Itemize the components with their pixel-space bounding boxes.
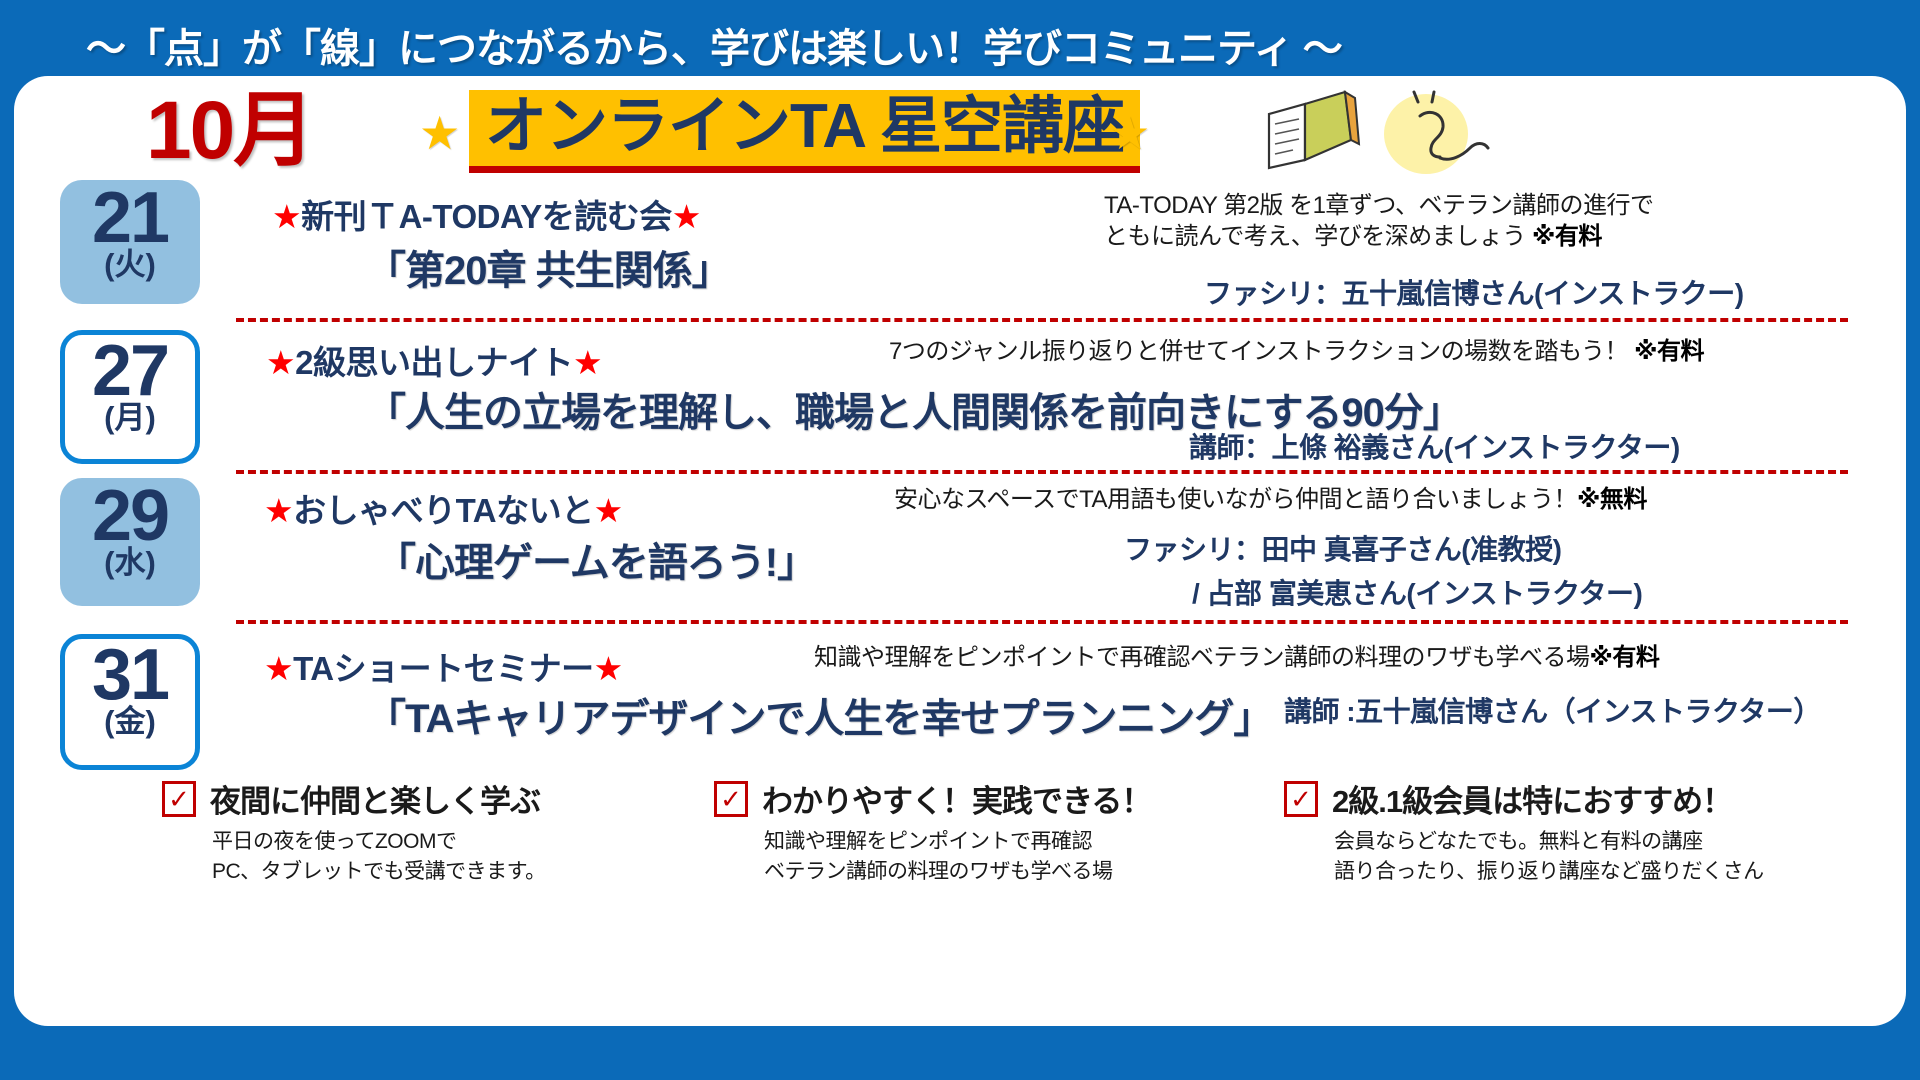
- star-icon: ★: [264, 650, 293, 687]
- fee-badge: ※有料: [1590, 644, 1660, 671]
- flyer-root: 〜「点」が「線」につながるから、学びは楽しい！学びコミュニティ 〜 10月 ★ …: [0, 0, 1920, 1080]
- listening-ear-icon: [1374, 90, 1494, 182]
- benefit-sub-line-1: 会員ならどなたでも。無料と有料の講座: [1334, 830, 1703, 853]
- event-description: 安心なスペースでTA用語も使いながら仲間と語り合いましょう！※無料: [894, 484, 1647, 515]
- benefit-subtext: 知識や理解をピンポイントで再確認 ベテラン講師の料理のワザも学べる場: [714, 827, 1151, 888]
- benefit-subtext: 平日の夜を使ってZOOMで PC、タブレットでも受講できます。: [162, 827, 546, 888]
- content-card: 10月 ★ オンラインTA 星空講座 ★: [14, 76, 1906, 1026]
- date-weekday: (水): [104, 547, 156, 578]
- date-weekday: (月): [104, 402, 156, 433]
- star-icon: ★: [672, 198, 701, 235]
- page-title: オンラインTA 星空講座: [469, 90, 1140, 173]
- benefit-title: 夜間に仲間と楽しく学ぶ: [210, 776, 540, 821]
- fee-badge: ※無料: [1577, 486, 1647, 513]
- star-right-icon: ★: [1109, 110, 1150, 156]
- fee-badge: ※有料: [1634, 338, 1704, 365]
- desc-line-2: ともに読んで考え、学びを深めましょう: [1104, 223, 1526, 250]
- event-headline-text: 新刊ＴA-TODAYを読む会: [301, 198, 672, 235]
- benefit-sub-line-1: 知識や理解をピンポイントで再確認: [764, 830, 1092, 853]
- event-row[interactable]: 31 (金) ★TAショートセミナー★ 「TAキャリアデザインで人生を幸せプラン…: [14, 624, 1906, 764]
- star-icon: ★: [264, 492, 293, 529]
- event-facilitator: ファシリ：田中 真喜子さん(准教授): [1124, 528, 1561, 568]
- benefit-sub-line-2: ベテラン講師の料理のワザも学べる場: [764, 860, 1113, 883]
- event-title: 「心理ゲームを語ろう!」: [376, 530, 816, 588]
- event-headline-text: TAショートセミナー: [293, 650, 594, 687]
- event-row[interactable]: 27 (月) ★2級思い出しナイト★ 「人生の立場を理解し、職場と人間関係を前向…: [14, 322, 1906, 472]
- date-weekday: (金): [104, 706, 156, 737]
- event-instructor: 講師：上條 裕義さん(インストラクター): [1189, 426, 1680, 466]
- event-description: 7つのジャンル振り返りと併せてインストラクションの場数を踏もう！ ※有料: [889, 336, 1704, 367]
- fee-badge: ※有料: [1532, 223, 1602, 250]
- desc-line-1: 安心なスペースでTA用語も使いながら仲間と語り合いましょう！: [894, 486, 1577, 513]
- star-icon: ★: [594, 650, 623, 687]
- event-description: TA-TODAY 第2版 を1章ずつ、ベテラン講師の進行で ともに読んで考え、学…: [1104, 190, 1653, 252]
- benefit-sub-line-1: 平日の夜を使ってZOOMで: [212, 830, 456, 853]
- open-book-icon: [1259, 84, 1369, 174]
- desc-line-1: 知識や理解をピンポイントで再確認ベテラン講師の料理のワザも学べる場: [814, 644, 1590, 671]
- benefit-item: ✓ 夜間に仲間と楽しく学ぶ 平日の夜を使ってZOOMで PC、タブレットでも受講…: [162, 776, 546, 888]
- event-headline: ★新刊ＴA-TODAYを読む会★: [272, 190, 701, 238]
- month-label: 10月: [146, 90, 313, 172]
- date-badge-27: 27 (月): [60, 330, 200, 464]
- date-badge-29: 29 (水): [60, 478, 200, 606]
- event-headline: ★2級思い出しナイト★: [266, 336, 602, 384]
- star-icon: ★: [266, 344, 295, 381]
- event-row[interactable]: 29 (水) ★おしゃべりTAないと★ 「心理ゲームを語ろう!」 安心なスペース…: [14, 472, 1906, 624]
- star-left-icon: ★: [419, 110, 460, 156]
- star-icon: ★: [272, 198, 301, 235]
- event-headline: ★TAショートセミナー★: [264, 642, 623, 690]
- event-facilitator-2: / 占部 富美恵さん(インストラクター): [1192, 572, 1642, 612]
- checkmark-icon: ✓: [1284, 781, 1318, 817]
- date-badge-31: 31 (金): [60, 634, 200, 770]
- event-title: 「TAキャリアデザインで人生を幸せプランニング」: [366, 686, 1272, 744]
- event-headline-text: おしゃべりTAないと: [293, 492, 594, 529]
- event-instructor: 講師 :五十嵐信博さん（インストラクター）: [1284, 690, 1821, 730]
- checkmark-icon: ✓: [714, 781, 748, 817]
- event-headline: ★おしゃべりTAないと★: [264, 484, 623, 532]
- date-weekday: (火): [104, 249, 156, 280]
- title-band: 10月 ★ オンラインTA 星空講座 ★: [14, 76, 1906, 186]
- star-icon: ★: [594, 492, 623, 529]
- event-row[interactable]: 21 (火) ★新刊ＴA-TODAYを読む会★ 「第20章 共生関係」 TA-T…: [14, 180, 1906, 322]
- date-day: 29: [92, 482, 168, 551]
- star-icon: ★: [573, 344, 602, 381]
- event-facilitator: ファシリ：五十嵐信博さん(インストラクー): [1204, 272, 1744, 312]
- benefit-item: ✓ わかりやすく！実践できる！ 知識や理解をピンポイントで再確認 ベテラン講師の…: [714, 776, 1151, 888]
- event-description: 知識や理解をピンポイントで再確認ベテラン講師の料理のワザも学べる場※有料: [814, 642, 1659, 673]
- desc-line-1: TA-TODAY 第2版 を1章ずつ、ベテラン講師の進行で: [1104, 192, 1653, 219]
- date-badge-21: 21 (火): [60, 180, 200, 304]
- event-title: 「第20章 共生関係」: [366, 238, 731, 296]
- checkmark-icon: ✓: [162, 781, 196, 817]
- date-day: 21: [92, 184, 168, 253]
- benefit-item: ✓ 2級.1級会員は特におすすめ！ 会員ならどなたでも。無料と有料の講座 語り合…: [1284, 776, 1764, 888]
- events-list: 21 (火) ★新刊ＴA-TODAYを読む会★ 「第20章 共生関係」 TA-T…: [14, 180, 1906, 764]
- date-day: 31: [92, 641, 168, 710]
- date-day: 27: [92, 337, 168, 406]
- event-headline-text: 2級思い出しナイト: [295, 344, 573, 381]
- benefits-strip: ✓ 夜間に仲間と楽しく学ぶ 平日の夜を使ってZOOMで PC、タブレットでも受講…: [14, 776, 1906, 926]
- desc-line-1: 7つのジャンル振り返りと併せてインストラクションの場数を踏もう！: [889, 338, 1628, 365]
- benefit-title: わかりやすく！実践できる！: [762, 776, 1151, 821]
- benefit-sub-line-2: PC、タブレットでも受講できます。: [212, 860, 546, 883]
- tagline: 〜「点」が「線」につながるから、学びは楽しい！学びコミュニティ 〜: [0, 14, 1920, 76]
- benefit-subtext: 会員ならどなたでも。無料と有料の講座 語り合ったり、振り返り講座など盛りだくさん: [1284, 827, 1764, 888]
- benefit-title: 2級.1級会員は特におすすめ！: [1332, 776, 1732, 821]
- benefit-sub-line-2: 語り合ったり、振り返り講座など盛りだくさん: [1334, 860, 1764, 883]
